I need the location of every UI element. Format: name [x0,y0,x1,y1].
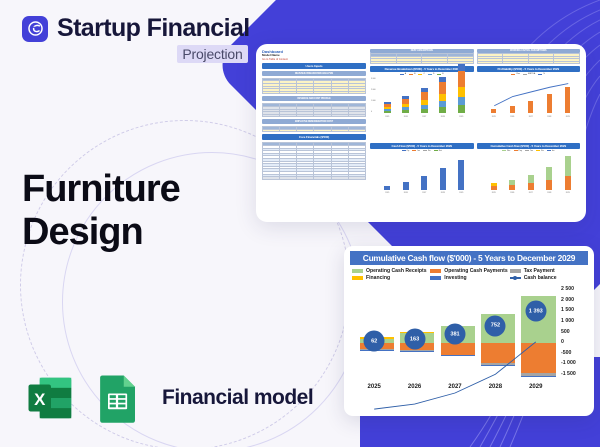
legend-item-tax-payment: Tax Payment [510,268,586,274]
y-tick-1: 2 000 [561,297,588,303]
mini-chart-plot-profitability: 20252026202720282029 [477,76,581,118]
brand-title: Startup Financial [57,14,250,43]
mini-chart-profitability[interactable]: Profitability ($'000) - 5 Years to Decem… [477,66,581,140]
google-sheets-icon [90,371,144,425]
microsoft-excel-icon: X [24,371,78,425]
x-tick-2028: 2028 [489,384,502,390]
mini-chart-plot-revenue: 3 0002 0001 0000 20252026202720282029 [370,76,474,118]
revenue-breakdown-table [262,78,366,95]
legend-item-investing: Investing [430,275,507,281]
headline-line-1: Furniture [22,168,180,211]
y-tick-4: 500 [561,329,588,335]
chart-y-axis: 2 500 2 000 1 500 1 000 500 0 -500 -1 00… [558,286,588,377]
legend-label-2: Tax Payment [524,268,555,274]
working-capital-table [477,53,581,64]
dashboard-table-header-revenue-cogs: REVENUE BREAKDOWN ANALYSIS [262,71,366,76]
legend-item-operating-cash-receipts: Operating Cash Receipts [352,268,428,274]
chart-title: Cumulative Cash flow ($'000) - 5 Years t… [350,251,588,265]
cash-balance-node-2026: 163 [404,329,425,350]
swirl-e-logo-icon [22,16,48,42]
chart-plot-area: 2 500 2 000 1 500 1 000 500 0 -500 -1 00… [350,286,588,391]
dashboard-table-header-employee-cost: EMPLOYEE REMUNERATION COST [262,119,366,124]
x-tick-2026: 2026 [408,384,421,390]
logo-row: Startup Financial [22,14,250,43]
x-tick-2027: 2027 [448,384,461,390]
debt-assumptions-table [370,53,474,64]
legend-label-5: Cash balance [524,275,557,281]
mini-chart-plot-cash-flow: 20252026202720282029 [370,153,474,195]
mini-chart-plot-cumulative: 20252026202720282029 [477,153,581,195]
cash-balance-node-2029: 1 393 [525,301,546,322]
cumulative-cash-flow-chart-card[interactable]: Cumulative Cash flow ($'000) - 5 Years t… [344,246,594,416]
chart-legend: Operating Cash Receipts Operating Cash P… [350,265,588,284]
cash-balance-node-2025: 62 [364,331,385,352]
core-financials-table [262,142,366,179]
mini-chart-cash-flow[interactable]: Cash Flow ($'000) - 5 Years to December … [370,143,474,217]
x-tick-2029: 2029 [529,384,542,390]
cash-balance-node-2028: 752 [485,315,506,336]
legend-label-3: Financing [366,275,390,281]
page-title: Furniture Design [22,168,180,255]
svg-text:X: X [34,390,46,409]
brand-subtitle: Projection [177,45,247,63]
footer-label: Financial model [162,386,313,410]
legend-item-financing: Financing [352,275,428,281]
chart-x-axis: 2025 2026 2027 2028 2029 [354,384,556,390]
mini-chart-revenue-breakdown[interactable]: Revenue Breakdown ($'000) - 5 Years to D… [370,66,474,140]
format-footer: X Financial model [24,371,313,425]
y-tick-7: -1 000 [561,360,588,366]
dashboard-section-users-inputs: Users Inputs [262,63,366,69]
y-tick-8: -1 500 [561,371,588,377]
cost-profile-table [262,103,366,117]
dashboard-tables-column: Dashboard Model Name Go to Table of Cont… [262,49,366,217]
brand-subtitle-row: Projection [22,45,250,63]
y-tick-3: 1 000 [561,318,588,324]
mini-chart-cumulative-cash-flow[interactable]: Cumulative Cash flow ($'000) - 5 Years t… [477,143,581,217]
brand-header: Startup Financial Projection [22,14,250,63]
dashboard-charts-column: DEBT ASSUMPTIONS WORKING CAPITAL ASSUMPT… [370,49,580,217]
headline-line-2: Design [22,211,180,254]
legend-item-operating-cash-payments: Operating Cash Payments [430,268,507,274]
y-tick-2: 1 500 [561,307,588,313]
chart-data-labels: 621633817521 393 [354,286,556,377]
dashboard-toc-link[interactable]: Go to Table of Content [262,58,366,61]
y-tick-0: 2 500 [561,286,588,292]
employee-cost-table [262,126,366,132]
legend-label-4: Investing [444,275,466,281]
y-tick-5: 0 [561,339,588,345]
dashboard-heading: Dashboard Model Name Go to Table of Cont… [262,49,366,61]
legend-label-1: Operating Cash Payments [444,268,507,274]
x-tick-2025: 2025 [368,384,381,390]
dashboard-section-core-financials: Core Financials ($'000) [262,134,366,140]
legend-item-cash-balance: Cash balance [510,275,586,281]
legend-label-0: Operating Cash Receipts [366,268,427,274]
dashboard-table-header-cost-profile: REVENUE AND COST PROFILE [262,96,366,101]
cash-balance-node-2027: 381 [445,324,466,345]
y-tick-6: -500 [561,350,588,356]
dashboard-preview-card[interactable]: Dashboard Model Name Go to Table of Cont… [256,44,586,222]
